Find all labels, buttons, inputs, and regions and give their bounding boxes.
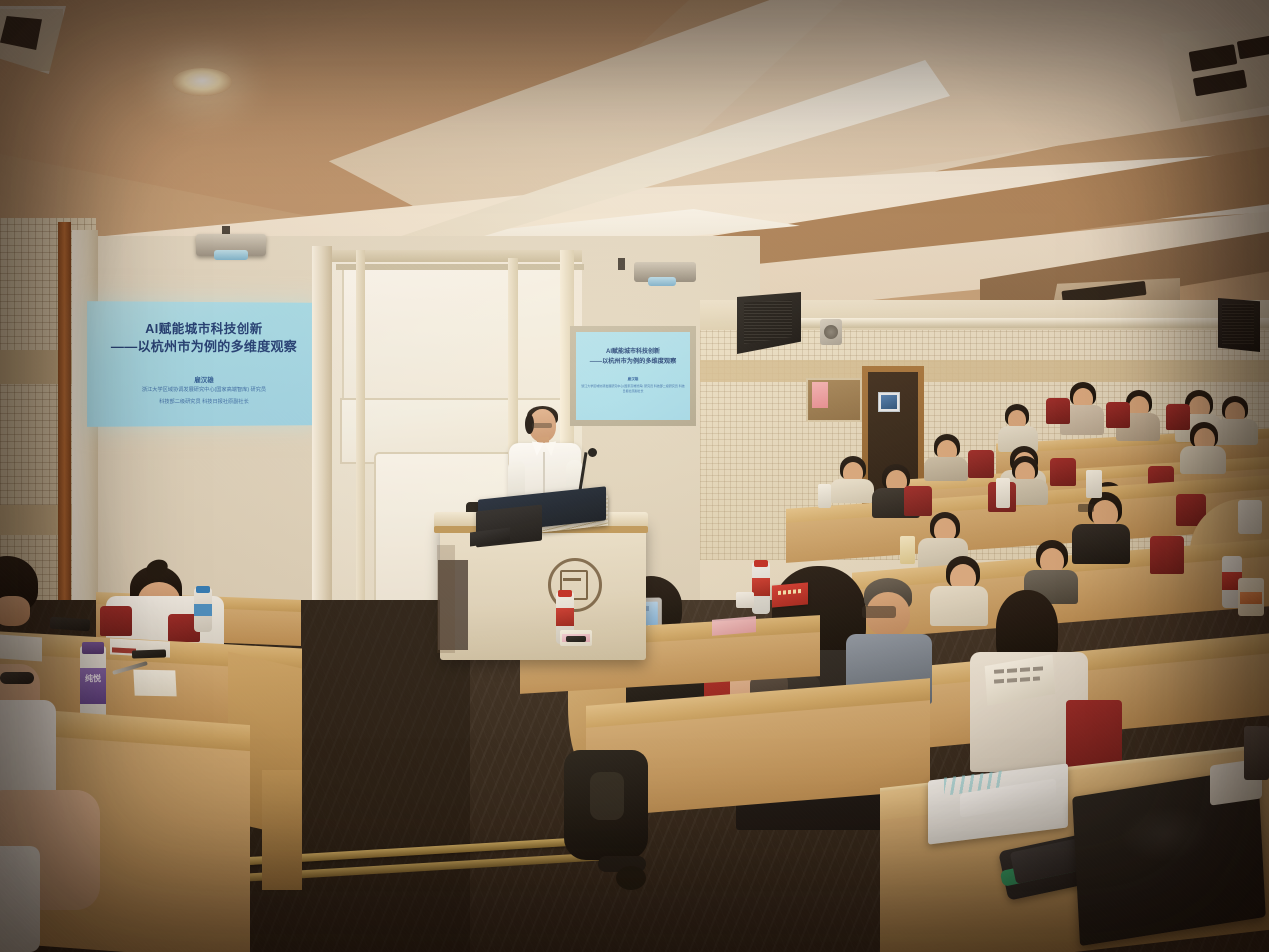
chair-row-2[interactable] (1150, 536, 1184, 574)
slide-affiliation-line2: 科技部二级研究员 科技日报社原副社长 (92, 398, 316, 405)
juice-cup (900, 536, 915, 564)
speaker-cone (824, 325, 838, 339)
chair-row-4[interactable] (1050, 458, 1076, 486)
chair-caster (616, 866, 646, 890)
speaker-grill (1222, 304, 1254, 344)
backpack-pocket (590, 772, 624, 820)
bottle-brand-text: 纯悦 (84, 674, 102, 696)
audience-shorts (0, 846, 40, 952)
audience-torso (830, 479, 874, 503)
speaker-grill (744, 300, 792, 344)
projector-lens-icon (214, 250, 248, 260)
drink-label (1240, 592, 1262, 604)
wall-header-beam (330, 250, 582, 262)
podium-side-shadow (437, 545, 455, 653)
desk-left-leg (262, 770, 302, 890)
slide2-affiliation: 浙江大学区域协调发展研究中心(国家高端智库) 研究员 科技部二级研究员 科技日报… (580, 384, 686, 393)
chair-row-4[interactable] (968, 450, 994, 478)
smartphone[interactable] (132, 649, 166, 658)
bottle-label (556, 608, 574, 626)
chair-back-row[interactable] (1106, 402, 1130, 428)
wall-pillar-b (356, 250, 365, 640)
drink-cup-small (996, 478, 1010, 508)
bottle-cap (754, 560, 768, 567)
paper-handout (0, 635, 42, 662)
wall-band-right (700, 360, 1269, 382)
presenter-glasses-icon (532, 423, 552, 428)
microphone-icon (588, 448, 597, 457)
drink-cup-small (1086, 470, 1102, 498)
glasses-icon (1078, 504, 1094, 512)
paper-cup (736, 592, 754, 608)
slide-author: 雇汉雄 (96, 374, 312, 384)
bottle-label-red (752, 578, 770, 596)
chair-back-row[interactable] (1046, 398, 1070, 424)
audience-torso (930, 586, 988, 626)
projector-lens-icon (648, 277, 676, 286)
notebook-highlight (1117, 801, 1212, 866)
drink-cup-small (818, 484, 831, 508)
lecture-hall-photo: AI赋能城市科技创新 ——以杭州市为例的多维度观察 雇汉雄 浙江大学区域协调发展… (0, 0, 1269, 952)
slide-title-line2: ——以杭州市为例的多维度观察 (90, 336, 318, 355)
slide2-title-line2: ——以杭州市为例的多维度观察 (578, 356, 688, 365)
bottle-label-blue (194, 604, 212, 616)
chair-row-3[interactable] (904, 486, 932, 516)
smartphone[interactable] (566, 636, 586, 642)
chair-left-row1[interactable] (100, 606, 132, 636)
notepad (133, 670, 176, 697)
audience-hand (0, 596, 30, 626)
wall-pillar-a (312, 246, 332, 646)
audience-torso (924, 457, 968, 481)
bottle-cap-purple (82, 642, 104, 654)
audience-torso (1072, 524, 1130, 564)
door-sign-icon (881, 395, 897, 409)
slide2-title-line1: AI赋能城市科技创新 (580, 346, 686, 355)
slide2-author: 雇汉雄 (580, 377, 686, 382)
glasses-icon (862, 606, 896, 618)
recessed-downlight-icon (172, 68, 232, 96)
drink-cup (1238, 500, 1262, 534)
wall-pillar-left (72, 230, 98, 650)
slide-title-line1: AI赋能城市科技创新 (96, 318, 312, 337)
bottle-cap-blue (196, 586, 210, 593)
coffee-cup (1244, 726, 1269, 780)
crest-inner-bar (563, 578, 581, 581)
chair-back-row[interactable] (1166, 404, 1190, 430)
whiteboard-rail (336, 264, 584, 270)
slide-affiliation-line1: 浙江大学区域协调发展研究中心(国家高端智库) 研究员 (92, 386, 316, 393)
posted-notice-pink (812, 382, 828, 408)
audience-torso (1180, 446, 1226, 474)
projector-mount (618, 258, 625, 270)
audience-torso (1214, 419, 1258, 445)
hair-tie (0, 672, 34, 684)
wood-trim-column (58, 222, 71, 642)
bottle-cap (558, 590, 572, 597)
